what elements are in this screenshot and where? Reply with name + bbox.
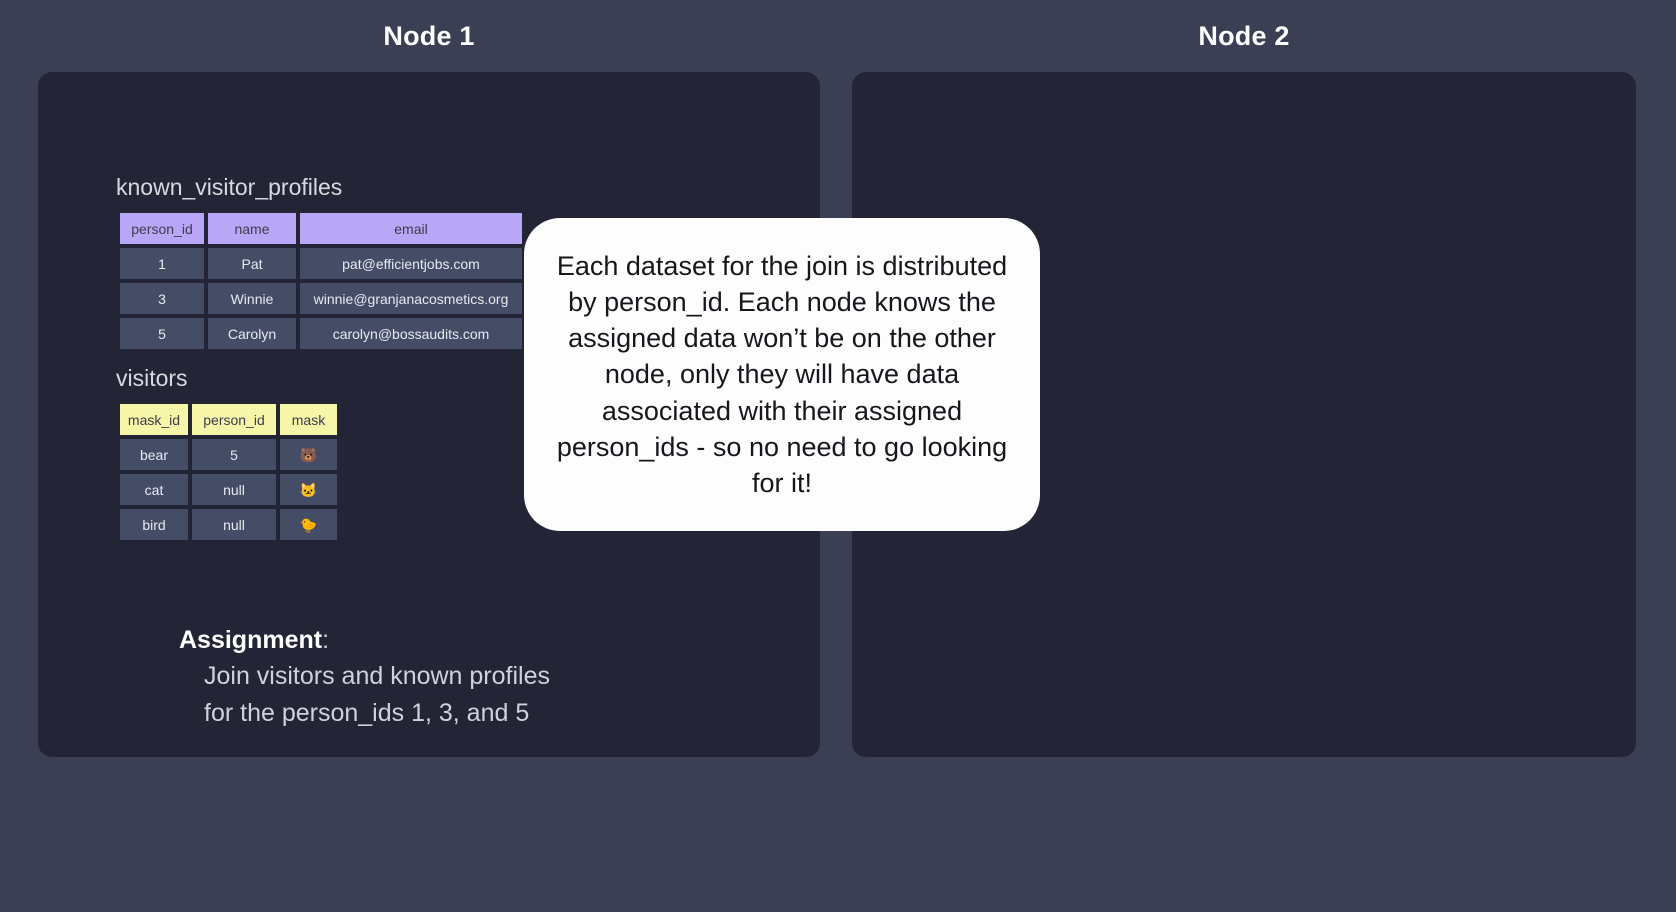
node-1-assignment-line-1: Join visitors and known profiles — [179, 658, 550, 694]
node-1-visitors-table-block: visitors mask_id person_id mask bear 5 — [116, 365, 341, 544]
node-1-visitors-caption: visitors — [116, 365, 341, 392]
cell-mask-id: bird — [120, 509, 188, 540]
cell-name: Carolyn — [208, 318, 296, 349]
cell-person-id: null — [192, 509, 276, 540]
slide-canvas: Node 1 known_visitor_profiles person_id … — [0, 0, 1676, 805]
cell-person-id: 1 — [120, 248, 204, 279]
assignment-colon: : — [322, 626, 329, 654]
node-1-profiles-table: person_id name email 1 Pat pat@efficient… — [116, 209, 526, 353]
cell-mask-id: bear — [120, 439, 188, 470]
node-2-title: Node 2 — [852, 21, 1636, 52]
node-1-profiles-caption: known_visitor_profiles — [116, 174, 526, 201]
cell-name: Pat — [208, 248, 296, 279]
cell-person-id: 5 — [192, 439, 276, 470]
column-header-mask: mask — [280, 404, 337, 435]
table-header-row: mask_id person_id mask — [120, 404, 337, 435]
node-1-known-visitor-profiles-table-block: known_visitor_profiles person_id name em… — [116, 174, 526, 353]
table-row: 1 Pat pat@efficientjobs.com — [120, 248, 522, 279]
node-1-assignment-line-2: for the person_ids 1, 3, and 5 — [179, 695, 550, 731]
table-header-row: person_id name email — [120, 213, 522, 244]
cell-name: Winnie — [208, 283, 296, 314]
table-row: bird null 🐤 — [120, 509, 337, 540]
node-1-assignment: Assignment: Join visitors and known prof… — [179, 622, 550, 731]
table-row: bear 5 🐻 — [120, 439, 337, 470]
explanation-callout: Each dataset for the join is distributed… — [524, 218, 1040, 531]
cell-email: winnie@granjanacosmetics.org — [300, 283, 522, 314]
column-header-mask-id: mask_id — [120, 404, 188, 435]
node-1-visitors-table: mask_id person_id mask bear 5 🐻 cat null — [116, 400, 341, 544]
cell-mask-id: cat — [120, 474, 188, 505]
cat-face-icon: 🐱 — [280, 474, 337, 505]
table-row: cat null 🐱 — [120, 474, 337, 505]
cell-email: carolyn@bossaudits.com — [300, 318, 522, 349]
table-row: 3 Winnie winnie@granjanacosmetics.org — [120, 283, 522, 314]
cell-person-id: null — [192, 474, 276, 505]
column-header-name: name — [208, 213, 296, 244]
cell-person-id: 5 — [120, 318, 204, 349]
node-1-title: Node 1 — [38, 21, 820, 52]
cell-person-id: 3 — [120, 283, 204, 314]
node-1-assignment-heading: Assignment — [179, 626, 322, 654]
column-header-email: email — [300, 213, 522, 244]
explanation-callout-text: Each dataset for the join is distributed… — [554, 248, 1010, 501]
bear-face-icon: 🐻 — [280, 439, 337, 470]
table-row: 5 Carolyn carolyn@bossaudits.com — [120, 318, 522, 349]
cell-email: pat@efficientjobs.com — [300, 248, 522, 279]
column-header-person-id: person_id — [120, 213, 204, 244]
bird-face-icon: 🐤 — [280, 509, 337, 540]
column-header-person-id: person_id — [192, 404, 276, 435]
